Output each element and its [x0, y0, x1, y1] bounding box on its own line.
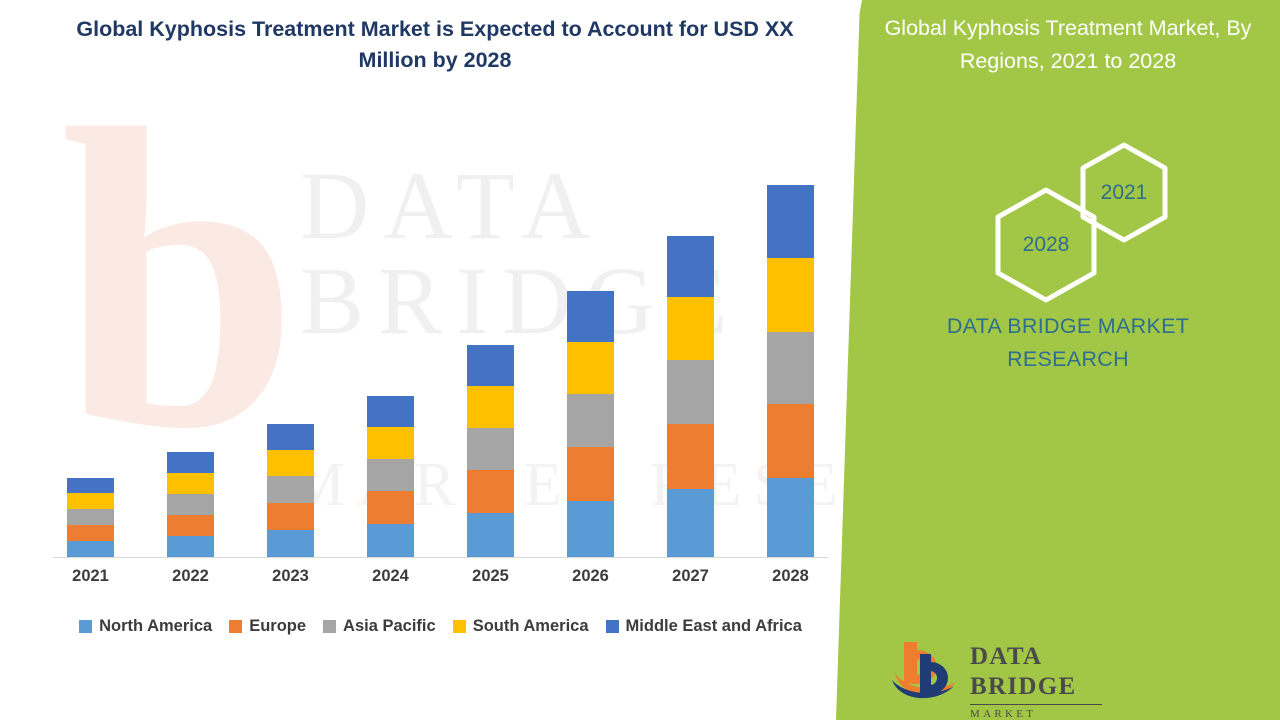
legend-swatch-icon	[229, 620, 242, 633]
x-axis-tick-label: 2023	[267, 567, 314, 595]
bar-segment	[467, 386, 514, 428]
bar-segment	[167, 473, 214, 494]
bar-segment	[167, 515, 214, 536]
x-axis-line	[53, 557, 828, 558]
bar-segment	[367, 427, 414, 459]
bar-segment	[767, 332, 814, 404]
bar-segment	[367, 396, 414, 427]
bar-segment	[767, 258, 814, 332]
x-axis-tick-label: 2025	[467, 567, 514, 595]
bar-segment	[267, 503, 314, 530]
legend-item[interactable]: South America	[453, 617, 589, 636]
bar-segment	[67, 509, 114, 525]
stacked-bar-column	[367, 396, 414, 557]
bar-segment	[367, 524, 414, 557]
hexagon-end-year-label: 2028	[1023, 233, 1070, 257]
bar-segment	[667, 360, 714, 424]
bar-segment	[67, 478, 114, 493]
x-axis-tick-label: 2021	[67, 567, 114, 595]
stacked-bar-column	[67, 478, 114, 557]
bar-segment	[767, 404, 814, 478]
legend-label: Asia Pacific	[343, 617, 436, 636]
legend-item[interactable]: Asia Pacific	[323, 617, 436, 636]
logo-company-name: DATA BRIDGE	[970, 642, 1105, 702]
bar-segment	[667, 236, 714, 297]
bar-segment	[67, 493, 114, 509]
bar-segment	[567, 291, 614, 342]
x-axis-tick-label: 2027	[667, 567, 714, 595]
bar-segment	[267, 476, 314, 503]
bar-segment	[467, 428, 514, 470]
legend-swatch-icon	[79, 620, 92, 633]
bar-segment	[467, 513, 514, 557]
chart-plot-area	[53, 150, 828, 558]
panel-brand-text: DATA BRIDGE MARKET RESEARCH	[896, 310, 1240, 376]
stacked-bar-column	[567, 291, 614, 557]
stacked-bar-column	[467, 345, 514, 557]
stacked-bar-column	[167, 452, 214, 557]
legend-swatch-icon	[453, 620, 466, 633]
legend-label: Europe	[249, 617, 306, 636]
legend-item[interactable]: North America	[79, 617, 212, 636]
x-axis-tick-label: 2026	[567, 567, 614, 595]
bar-segment	[267, 424, 314, 450]
bar-segment	[167, 452, 214, 473]
bar-segment	[567, 501, 614, 557]
stacked-bar-column	[767, 185, 814, 557]
bar-segment	[267, 530, 314, 557]
bar-segment	[667, 489, 714, 557]
chart-legend: North AmericaEuropeAsia PacificSouth Ame…	[53, 617, 828, 636]
bar-segment	[167, 494, 214, 515]
bar-segment	[467, 470, 514, 513]
x-axis-tick-label: 2028	[767, 567, 814, 595]
legend-label: South America	[473, 617, 589, 636]
logo-divider	[970, 704, 1102, 705]
hexagon-badge-end-year: 2028	[990, 185, 1102, 305]
legend-item[interactable]: Europe	[229, 617, 306, 636]
legend-label: North America	[99, 617, 212, 636]
bar-segment	[767, 478, 814, 557]
logo-wordmark: DATA BRIDGE MARKET RESEARCH	[970, 642, 1105, 720]
bar-segment	[367, 491, 414, 524]
stacked-bar-column	[667, 236, 714, 557]
bar-segment	[67, 525, 114, 541]
logo-tagline: MARKET RESEARCH	[970, 708, 1105, 720]
company-logo: DATA BRIDGE MARKET RESEARCH	[890, 638, 1105, 700]
bar-segment	[567, 342, 614, 394]
bar-segment	[667, 424, 714, 489]
x-axis-tick-label: 2022	[167, 567, 214, 595]
legend-item[interactable]: Middle East and Africa	[606, 617, 802, 636]
bar-segment	[567, 447, 614, 501]
x-axis-tick-labels: 20212022202320242025202620272028	[53, 567, 828, 595]
legend-swatch-icon	[606, 620, 619, 633]
bar-segment	[667, 297, 714, 360]
hexagon-start-year-label: 2021	[1101, 181, 1148, 205]
bar-segment	[467, 345, 514, 386]
stacked-bar-group	[53, 150, 828, 557]
panel-title: Global Kyphosis Treatment Market, By Reg…	[856, 12, 1280, 78]
stacked-bar-column	[267, 424, 314, 557]
legend-label: Middle East and Africa	[626, 617, 802, 636]
legend-swatch-icon	[323, 620, 336, 633]
chart-title: Global Kyphosis Treatment Market is Expe…	[70, 14, 800, 76]
x-axis-tick-label: 2024	[367, 567, 414, 595]
bar-segment	[767, 185, 814, 258]
bar-segment	[267, 450, 314, 476]
bar-segment	[67, 541, 114, 557]
bar-segment	[567, 394, 614, 447]
hexagon-badges: 2021 2028	[980, 140, 1200, 270]
infographic-canvas: b DATA BRIDGE MARKET RESEARCH Global Kyp…	[0, 0, 1280, 720]
data-bridge-logo-mark	[890, 638, 962, 700]
bar-segment	[367, 459, 414, 491]
bar-segment	[167, 536, 214, 557]
